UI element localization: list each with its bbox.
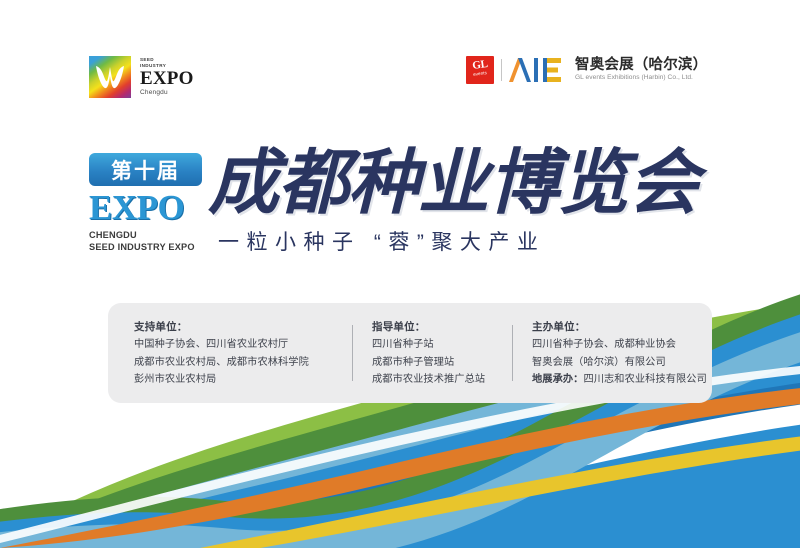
- page-title: 成都种业博览会: [208, 150, 698, 218]
- organizer-info-panel: 支持单位： 中国种子协会、四川省农业农村厅 成都市农业农村局、成都市农林科学院 …: [108, 303, 712, 403]
- support-unit-line: 彭州市农业农村局: [134, 374, 346, 387]
- guidance-units-column: 指导单位： 四川省种子站 成都市种子管理站 成都市农业技术推广总站: [346, 319, 506, 386]
- logo-line-expo: EXPO: [140, 69, 194, 88]
- logo-bar: SEED INDUSTRY EXPO Chengdu GL events: [0, 52, 800, 110]
- host-units-column: 主办单位： 四川省种子协会、成都种业协会 智奥会展（哈尔滨）有限公司 地展承办：…: [506, 319, 712, 386]
- subtitle-line-seed-industry-expo: SEED INDUSTRY EXPO: [89, 242, 209, 254]
- aice-icon: [509, 58, 565, 82]
- edition-stack: 第十届 EXPO CHENGDU SEED INDUSTRY EXPO: [89, 153, 209, 253]
- title-wrap: 成都种业博览会 一粒小种子 “蓉”聚大产业: [208, 150, 698, 256]
- host-unit-line: 四川省种子协会、成都种业协会: [532, 339, 712, 352]
- logo-line-chengdu: Chengdu: [140, 90, 194, 97]
- expo-wordmark: EXPO: [89, 190, 209, 225]
- guidance-unit-line: 四川省种子站: [372, 339, 506, 352]
- host-units-heading: 主办单位：: [532, 319, 712, 334]
- support-units-column: 支持单位： 中国种子协会、四川省农业农村厅 成都市农业农村局、成都市农林科学院 …: [108, 319, 346, 386]
- aice-glyph: [509, 58, 565, 82]
- guidance-unit-line: 成都市种子管理站: [372, 357, 506, 370]
- field-exhibition-label: 地展承办：: [532, 374, 583, 385]
- logo-divider: [501, 59, 502, 81]
- support-unit-line: 成都市农业农村局、成都市农林科学院: [134, 357, 346, 370]
- support-units-heading: 支持单位：: [134, 319, 346, 334]
- aice-company-text: 智奥会展（哈尔滨） GL events Exhibitions (Harbin)…: [575, 58, 707, 82]
- gl-events-aice-logo: GL events 智奥会展（哈尔滨） GL events Exhibition…: [466, 56, 707, 84]
- field-exhibition-value: 四川志和农业科技有限公司: [583, 374, 706, 385]
- company-name-cn: 智奥会展（哈尔滨）: [575, 58, 707, 73]
- field-exhibition-organizer: 地展承办：四川志和农业科技有限公司: [532, 374, 712, 387]
- headline-block: 第十届 EXPO CHENGDU SEED INDUSTRY EXPO 成都种业…: [0, 150, 800, 275]
- tagline: 一粒小种子 “蓉”聚大产业: [218, 226, 698, 256]
- rainbow-leaf-icon: [89, 56, 131, 98]
- expo-poster: SEED INDUSTRY EXPO Chengdu GL events: [0, 0, 800, 548]
- subtitle-line-chengdu: CHENGDU: [89, 230, 209, 242]
- leaf-w-glyph: [94, 62, 126, 92]
- gl-events-icon: GL events: [466, 56, 494, 84]
- logo-line-seed: SEED: [140, 58, 194, 63]
- expo-logo-text: SEED INDUSTRY EXPO Chengdu: [140, 58, 194, 96]
- company-name-en: GL events Exhibitions (Harbin) Co., Ltd.: [575, 75, 707, 82]
- guidance-unit-line: 成都市农业技术推广总站: [372, 374, 506, 387]
- chengdu-seed-expo-logo: SEED INDUSTRY EXPO Chengdu: [89, 56, 194, 98]
- edition-badge: 第十届: [89, 153, 202, 186]
- guidance-units-heading: 指导单位：: [372, 319, 506, 334]
- host-unit-line: 智奥会展（哈尔滨）有限公司: [532, 357, 712, 370]
- support-unit-line: 中国种子协会、四川省农业农村厅: [134, 339, 346, 352]
- expo-subtitle-en: CHENGDU SEED INDUSTRY EXPO: [89, 230, 209, 253]
